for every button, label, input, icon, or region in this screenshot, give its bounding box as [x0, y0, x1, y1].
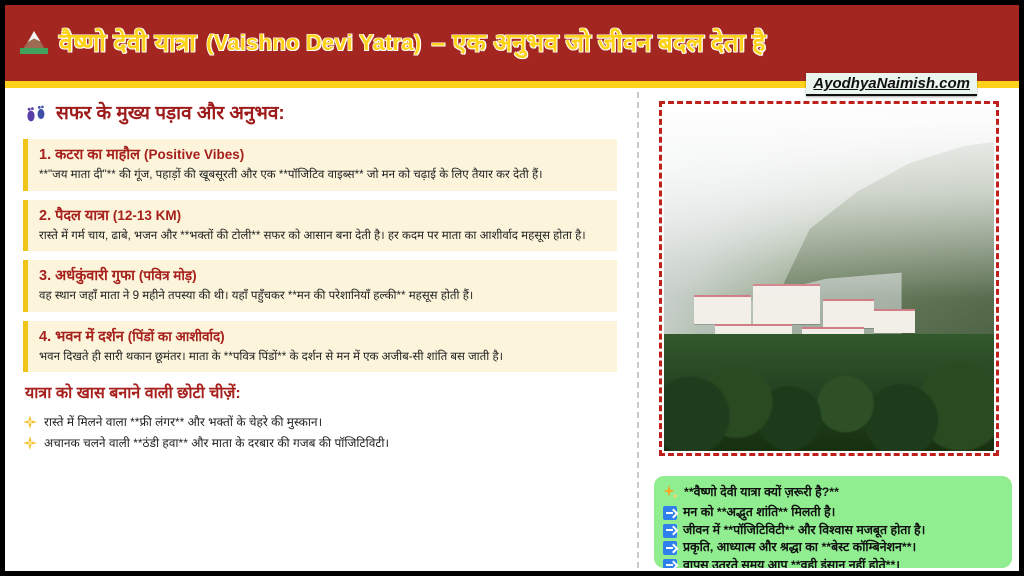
- arrow-right-icon: [663, 524, 677, 538]
- arrow-right-icon: [663, 506, 677, 520]
- photo-forest: [664, 334, 994, 451]
- stage-card-title: 1. कटरा का माहौल (Positive Vibes): [39, 145, 607, 165]
- list-item: जीवन में **पॉजिटिविटी** और विश्वास मजबूत…: [663, 522, 1003, 540]
- stage-title-english: (पवित्र मोड़): [139, 268, 197, 283]
- stage-card-body: भवन दिखते ही सारी थकान छूमंतर। माता के *…: [39, 349, 607, 366]
- why-yatra-heading: **वैष्णो देवी यात्रा क्यों ज़रूरी है?**: [663, 484, 1003, 501]
- stage-card-body: रास्ते में गर्म चाय, ढाबे, भजन और **भक्त…: [39, 228, 607, 245]
- watermark-label: AyodhyaNaimish.com: [806, 73, 977, 96]
- list-item: अचानक चलने वाली **ठंडी हवा** और माता के …: [23, 434, 617, 452]
- stage-title-hindi: 2. पैदल यात्रा: [39, 208, 109, 224]
- page-title: वैष्णो देवी यात्रा (Vaishno Devi Yatra) …: [19, 28, 1005, 58]
- why-item-text: प्रकृति, आध्यात्म और श्रद्धा का **बेस्ट …: [683, 539, 916, 557]
- stage-card-body: **"जय माता दी"** की गूंज, पहाड़ों की खूब…: [39, 167, 607, 184]
- stage-title-hindi: 3. अर्धकुंवारी गुफा: [39, 268, 135, 284]
- sparkle-star-icon: [23, 415, 37, 429]
- sparkles-icon: [663, 485, 678, 500]
- stage-title-hindi: 4. भवन में दर्शन: [39, 329, 124, 345]
- photo-frame: [659, 101, 999, 456]
- shrine-photo: [664, 106, 994, 451]
- why-yatra-box: **वैष्णो देवी यात्रा क्यों ज़रूरी है?** …: [654, 476, 1012, 568]
- extras-item-text: अचानक चलने वाली **ठंडी हवा** और माता के …: [44, 434, 389, 452]
- stage-title-english: (पिंडों का आशीर्वाद): [128, 329, 225, 344]
- arrow-right-icon: [663, 559, 677, 569]
- left-column: सफर के मुख्य पड़ाव और अनुभव: 1. कटरा का …: [5, 88, 635, 571]
- section-heading: सफर के मुख्य पड़ाव और अनुभव:: [25, 102, 617, 125]
- stage-card: 2. पैदल यात्रा (12-13 KM) रास्ते में गर्…: [23, 200, 617, 252]
- list-item: रास्ते में मिलने वाला **फ्री लंगर** और भ…: [23, 413, 617, 431]
- why-item-text: जीवन में **पॉजिटिविटी** और विश्वास मजबूत…: [683, 522, 925, 540]
- list-item: मन को **अद्भुत शांति** मिलती है।: [663, 504, 1003, 522]
- mountain-icon: [19, 30, 49, 56]
- title-hindi-1: वैष्णो देवी यात्रा: [59, 28, 196, 58]
- why-item-text: मन को **अद्भुत शांति** मिलती है।: [683, 504, 835, 522]
- extras-list: रास्ते में मिलने वाला **फ्री लंगर** और भ…: [23, 413, 617, 452]
- section-heading-text: सफर के मुख्य पड़ाव और अनुभव:: [56, 102, 285, 125]
- stage-card-title: 2. पैदल यात्रा (12-13 KM): [39, 206, 607, 226]
- header-bar: वैष्णो देवी यात्रा (Vaishno Devi Yatra) …: [5, 5, 1019, 81]
- why-yatra-list: मन को **अद्भुत शांति** मिलती है। जीवन मे…: [663, 504, 1003, 568]
- extras-item-text: रास्ते में मिलने वाला **फ्री लंगर** और भ…: [44, 413, 322, 431]
- content-area: सफर के मुख्य पड़ाव और अनुभव: 1. कटरा का …: [5, 88, 1019, 571]
- stage-card: 4. भवन में दर्शन (पिंडों का आशीर्वाद) भव…: [23, 321, 617, 373]
- stage-card-body: वह स्थान जहाँ माता ने 9 महीने तपस्या की …: [39, 288, 607, 305]
- title-hindi-2: – एक अनुभव जो जीवन बदल देता है: [431, 28, 765, 58]
- list-item: वापस उतरते समय आप **वही इंसान नहीं होते*…: [663, 557, 1003, 569]
- extras-heading: यात्रा को खास बनाने वाली छोटी चीज़ें:: [25, 384, 617, 404]
- stage-card-title: 4. भवन में दर्शन (पिंडों का आशीर्वाद): [39, 327, 607, 347]
- why-item-text: वापस उतरते समय आप **वही इंसान नहीं होते*…: [683, 557, 900, 569]
- stage-title-hindi: 1. कटरा का माहौल: [39, 147, 140, 163]
- right-column: **वैष्णो देवी यात्रा क्यों ज़रूरी है?** …: [645, 88, 1019, 571]
- column-divider: [637, 92, 639, 568]
- title-english: (Vaishno Devi Yatra): [206, 28, 421, 58]
- stage-card: 3. अर्धकुंवारी गुफा (पवित्र मोड़) वह स्थ…: [23, 260, 617, 312]
- slide-canvas: वैष्णो देवी यात्रा (Vaishno Devi Yatra) …: [0, 0, 1024, 576]
- list-item: प्रकृति, आध्यात्म और श्रद्धा का **बेस्ट …: [663, 539, 1003, 557]
- stage-card: 1. कटरा का माहौल (Positive Vibes) **"जय …: [23, 139, 617, 191]
- stage-title-english: (Positive Vibes): [144, 147, 244, 162]
- sparkle-star-icon: [23, 436, 37, 450]
- stage-card-title: 3. अर्धकुंवारी गुफा (पवित्र मोड़): [39, 266, 607, 286]
- photo-mist-overlay: [664, 106, 994, 299]
- footprints-icon: [25, 103, 47, 125]
- stage-title-english: (12-13 KM): [113, 208, 181, 223]
- why-yatra-heading-text: **वैष्णो देवी यात्रा क्यों ज़रूरी है?**: [684, 484, 839, 501]
- arrow-right-icon: [663, 541, 677, 555]
